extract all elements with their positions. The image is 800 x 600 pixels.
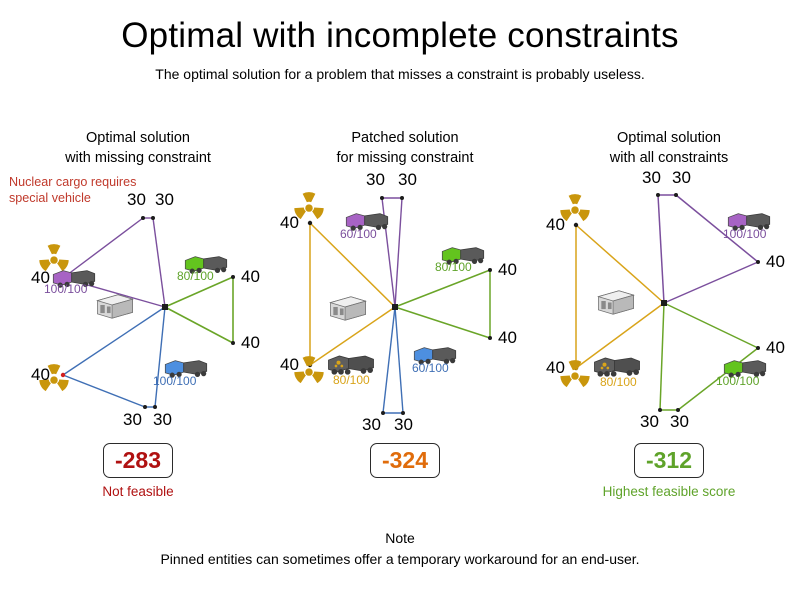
footer-note: Note Pinned entities can sometimes offer… (0, 528, 800, 570)
score-badge[interactable]: -324 (370, 443, 440, 478)
truck-icon-gold (326, 350, 368, 374)
node-label: 30 (642, 168, 661, 188)
footer-note-title: Note (0, 528, 800, 549)
score-note: Highest feasible score (536, 484, 800, 499)
truck-capacity-label: 80/100 (600, 375, 637, 389)
node-label: 40 (280, 213, 299, 233)
node-label: 40 (498, 260, 517, 280)
depot-icon (93, 290, 137, 320)
panel-optimal-all-constraints: Optimal solution with all constraints (536, 110, 800, 430)
node-label: 30 (366, 170, 385, 190)
truck-capacity-label: 100/100 (44, 282, 87, 296)
route-green (395, 270, 490, 338)
callout-line2: special vehicle (9, 191, 91, 205)
truck-capacity-label: 100/100 (716, 374, 759, 388)
score-cell: -283 Not feasible (5, 443, 271, 499)
node-label: 30 (394, 415, 413, 435)
node-label: 40 (546, 358, 565, 378)
node-label: 40 (241, 333, 260, 353)
score-badge[interactable]: -312 (634, 443, 704, 478)
node-label: 40 (280, 355, 299, 375)
customer-dots (61, 216, 235, 409)
node-label: 30 (127, 190, 146, 210)
node-label: 40 (241, 267, 260, 287)
panel-patched-missing-constraint: Patched solution for missing constraint (272, 110, 538, 430)
score-cell: -312 Highest feasible score (536, 443, 800, 499)
page-title: Optimal with incomplete constraints (0, 16, 800, 56)
callout-line1: Nuclear cargo requires (9, 175, 136, 189)
node-label: 40 (546, 215, 565, 235)
truck-capacity-label: 80/100 (177, 269, 214, 283)
diagram-canvas: Optimal with incomplete constraints The … (0, 0, 800, 600)
truck-icon-gold (592, 352, 634, 376)
truck-capacity-label: 60/100 (412, 361, 449, 375)
node-label: 30 (155, 190, 174, 210)
truck-capacity-label: 60/100 (340, 227, 377, 241)
depot-icon (594, 286, 638, 316)
truck-capacity-label: 100/100 (153, 374, 196, 388)
node-label: 30 (670, 412, 689, 432)
node-label: 30 (672, 168, 691, 188)
route-blue (63, 307, 165, 407)
footer-note-body: Pinned entities can sometimes offer a te… (0, 549, 800, 570)
truck-capacity-label: 100/100 (723, 227, 766, 241)
node-label: 40 (498, 328, 517, 348)
panel-optimal-missing-constraint: Optimal solution with missing constraint (5, 110, 271, 430)
page-subtitle: The optimal solution for a problem that … (0, 66, 800, 82)
node-label: 30 (362, 415, 381, 435)
node-label: 40 (31, 268, 50, 288)
node-label: 40 (31, 365, 50, 385)
truck-capacity-label: 80/100 (435, 260, 472, 274)
node-label: 30 (153, 410, 172, 430)
depot-icon (326, 292, 370, 322)
score-note: Not feasible (5, 484, 271, 499)
node-label: 40 (766, 338, 785, 358)
route-blue (383, 307, 403, 413)
node-label: 40 (766, 252, 785, 272)
score-cell: -324 (272, 443, 538, 484)
score-badge[interactable]: -283 (103, 443, 173, 478)
route-green (165, 277, 233, 343)
truck-capacity-label: 80/100 (333, 373, 370, 387)
node-label: 30 (398, 170, 417, 190)
node-label: 30 (640, 412, 659, 432)
node-label: 30 (123, 410, 142, 430)
